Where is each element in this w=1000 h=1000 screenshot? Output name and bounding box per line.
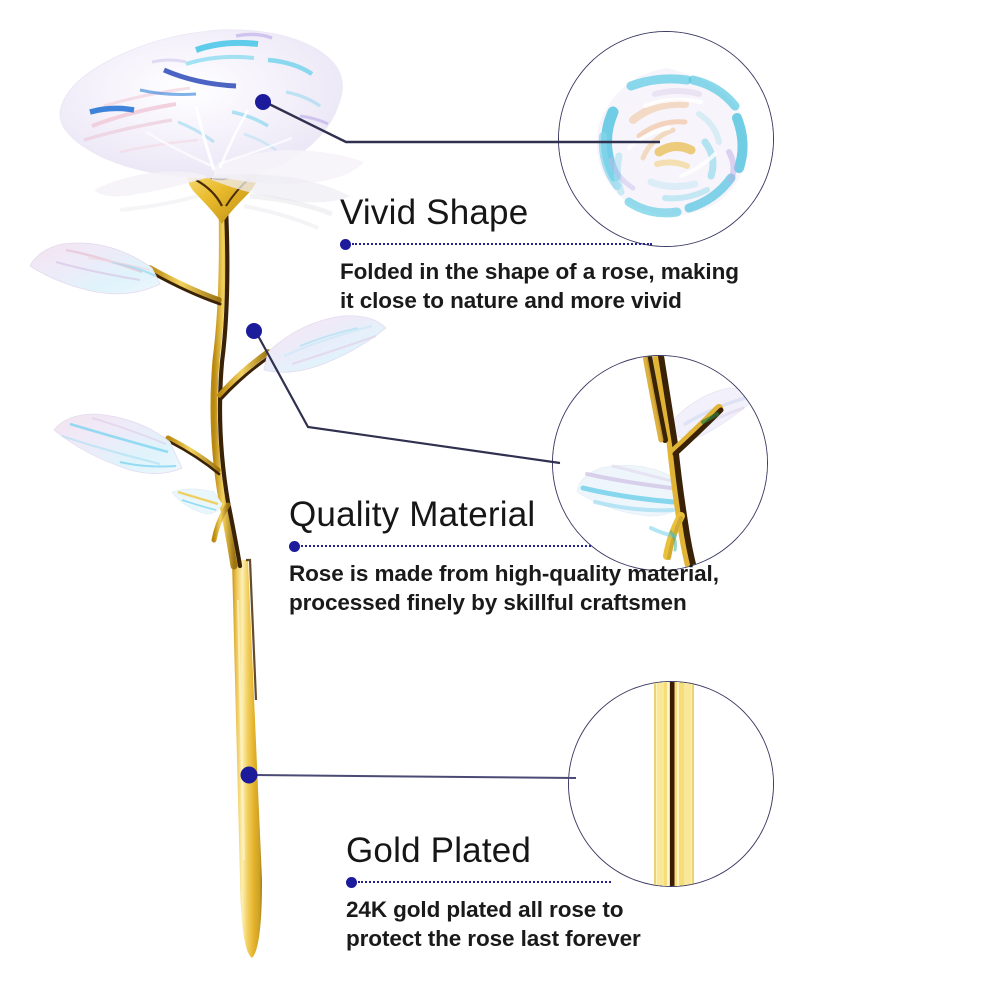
rose-bloom [60, 30, 364, 203]
feature-heading-quality-material: Quality Material [289, 497, 719, 534]
iridescent-leaf-bottom [172, 489, 222, 514]
feature-divider-quality-material [289, 541, 719, 550]
divider-dot-icon [340, 239, 351, 250]
feature-body-line2-quality-material: processed finely by skillful craftsmen [289, 588, 719, 618]
gold-stem-shaft [232, 560, 262, 958]
feature-body-line1-gold-plated: 24K gold plated all rose to [346, 895, 641, 925]
iridescent-leaf-upper-left [30, 243, 160, 294]
feature-block-gold-plated: Gold Plated 24K gold plated all rose to … [346, 833, 641, 954]
feature-divider-gold-plated [346, 877, 641, 886]
feature-body-line1-quality-material: Rose is made from high-quality material, [289, 559, 719, 589]
divider-dotted-line [352, 243, 652, 247]
iridescent-leaf-lower-left [54, 414, 182, 474]
feature-heading-vivid-shape: Vivid Shape [340, 195, 739, 232]
divider-dot-icon [346, 877, 357, 888]
feature-body-line2-vivid-shape: it close to nature and more vivid [340, 286, 739, 316]
divider-dotted-line [301, 545, 591, 549]
iridescent-leaf-upper-right [264, 316, 386, 373]
feature-heading-gold-plated: Gold Plated [346, 833, 641, 870]
feature-divider-vivid-shape [340, 239, 739, 248]
infographic-canvas: Vivid Shape Folded in the shape of a ros… [0, 0, 1000, 1000]
divider-dot-icon [289, 541, 300, 552]
feature-block-vivid-shape: Vivid Shape Folded in the shape of a ros… [340, 195, 739, 316]
divider-dotted-line [358, 881, 611, 885]
feature-body-line2-gold-plated: protect the rose last forever [346, 924, 641, 954]
feature-body-line1-vivid-shape: Folded in the shape of a rose, making [340, 257, 739, 287]
feature-block-quality-material: Quality Material Rose is made from high-… [289, 497, 719, 618]
